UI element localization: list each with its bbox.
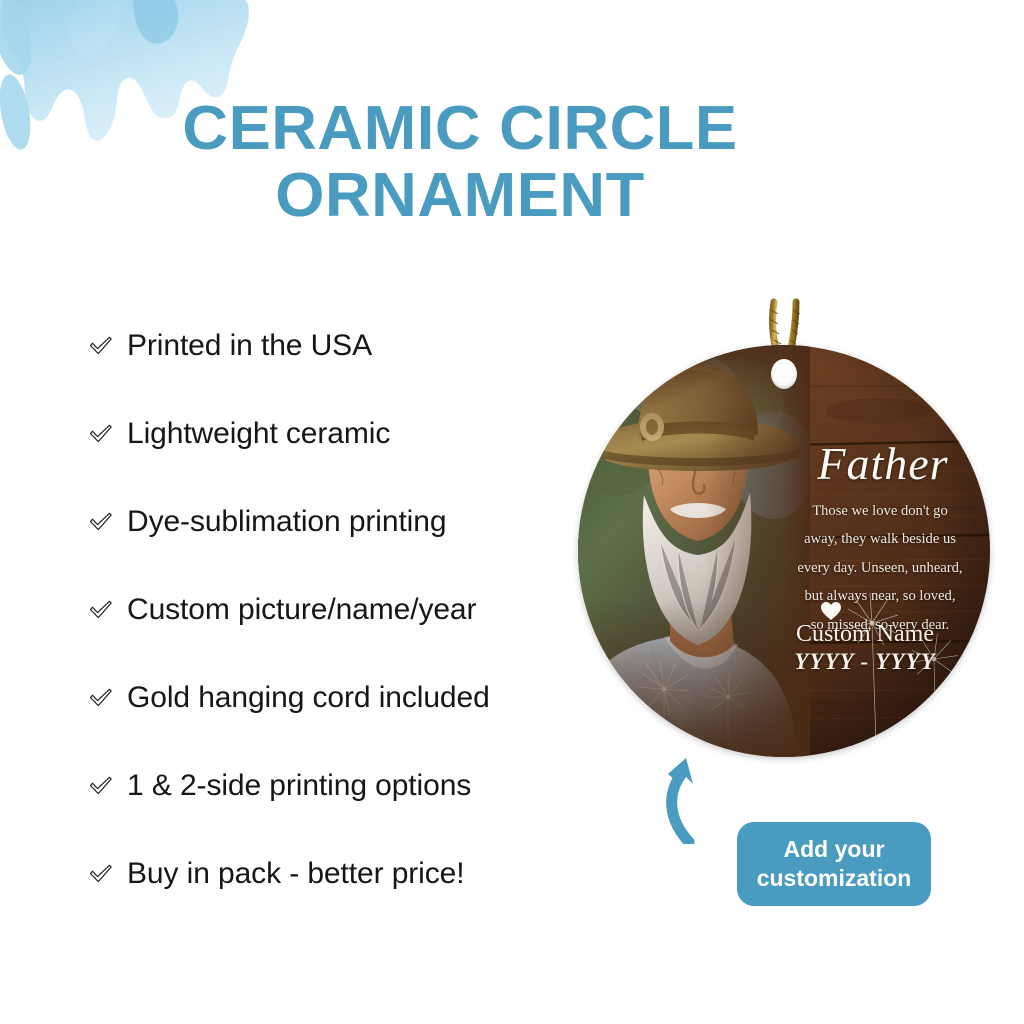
page-title-line2: ORNAMENT (113, 163, 807, 230)
poem-line: Those we love don't go (770, 497, 990, 525)
list-item-label: Printed in the USA (127, 329, 372, 363)
list-item: Printed in the USA (88, 326, 558, 366)
list-item: Dye-sublimation printing (88, 502, 558, 542)
custom-name-text: Custom Name (740, 621, 990, 648)
check-outline-icon (88, 597, 114, 623)
check-outline-icon (88, 421, 114, 447)
list-item-label: Buy in pack - better price! (127, 857, 464, 891)
check-outline-icon (88, 685, 114, 711)
add-customization-button[interactable]: Add your customization (737, 822, 931, 906)
ornament-heading: Father (776, 441, 990, 487)
check-outline-icon (88, 861, 114, 887)
list-item: Lightweight ceramic (88, 414, 558, 454)
poem-line: away, they walk beside us (770, 525, 990, 553)
product-feature-graphic: CERAMIC CIRCLE ORNAMENT Printed in the U… (0, 0, 1024, 1024)
page-title-line1: CERAMIC CIRCLE (182, 94, 737, 163)
list-item-label: 1 & 2-side printing options (127, 769, 471, 803)
list-item: Buy in pack - better price! (88, 854, 558, 894)
check-outline-icon (88, 333, 114, 359)
ornament-product-image: Father Those we love don't go away, they… (578, 296, 990, 766)
curved-up-arrow-icon (655, 752, 747, 844)
list-item-label: Lightweight ceramic (127, 417, 390, 451)
list-item-label: Dye-sublimation printing (127, 505, 446, 539)
ceramic-circle-ornament: Father Those we love don't go away, they… (578, 345, 990, 757)
check-outline-icon (88, 509, 114, 535)
list-item: 1 & 2-side printing options (88, 766, 558, 806)
badge-line1: Add your (784, 836, 885, 862)
list-item-label: Gold hanging cord included (127, 681, 490, 715)
badge-line2: customization (757, 865, 912, 891)
list-item-label: Custom picture/name/year (127, 593, 476, 627)
ornament-text-panel: Father Those we love don't go away, they… (790, 345, 990, 757)
poem-line: every day. Unseen, unheard, (770, 554, 990, 582)
heart-icon (820, 601, 842, 621)
feature-list: Printed in the USA Lightweight ceramic D… (88, 326, 558, 894)
custom-years-text: YYYY - YYYY (740, 649, 990, 675)
list-item: Custom picture/name/year (88, 590, 558, 630)
list-item: Gold hanging cord included (88, 678, 558, 718)
ornament-poem: Those we love don't go away, they walk b… (770, 497, 990, 639)
check-outline-icon (88, 773, 114, 799)
badge-text: Add your customization (757, 835, 912, 893)
poem-line: but always near, so loved, (770, 582, 990, 610)
page-title: CERAMIC CIRCLE ORNAMENT (113, 96, 807, 230)
